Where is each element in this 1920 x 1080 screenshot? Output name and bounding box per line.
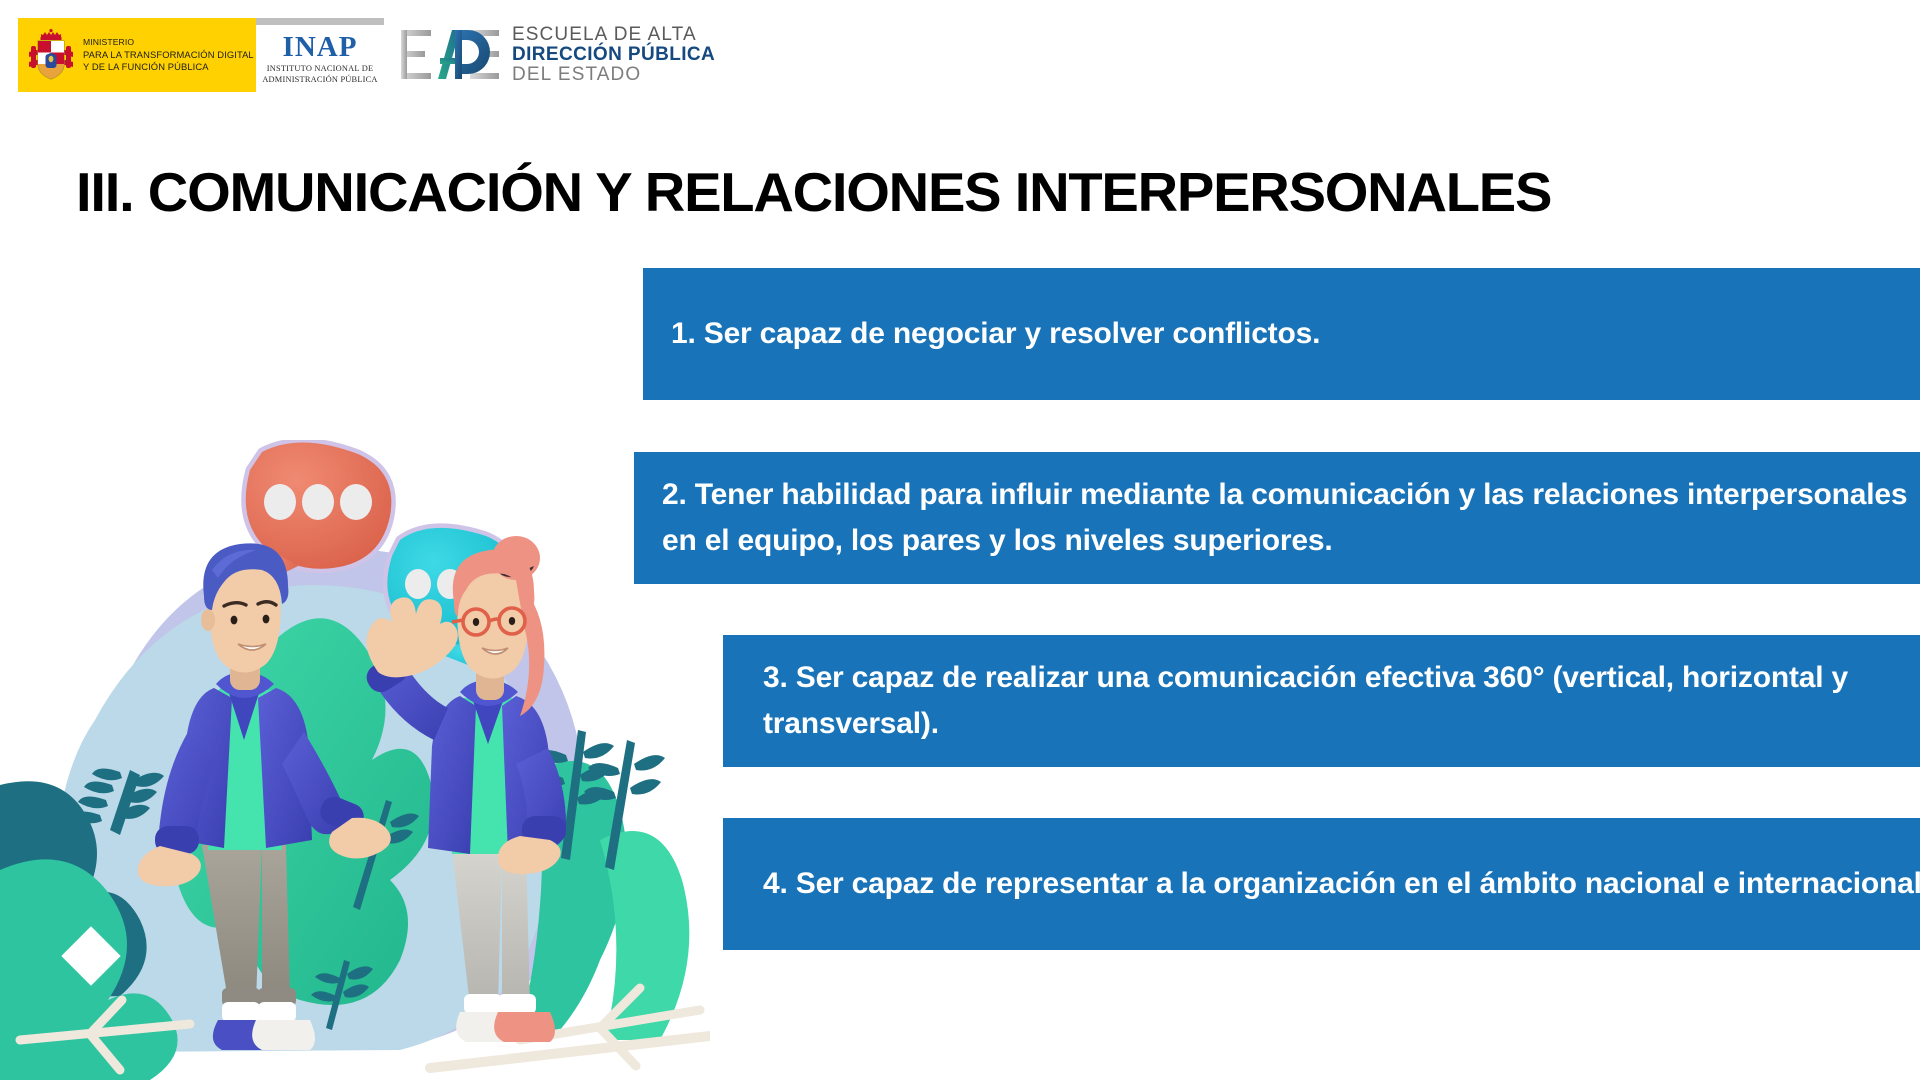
logo-ministerio: MINISTERIO PARA LA TRANSFORMACIÓN DIGITA… bbox=[18, 18, 256, 92]
bullet-box-2: 2. Tener habilidad para influir mediante… bbox=[634, 452, 1920, 584]
illustration-two-people-conversation bbox=[0, 440, 710, 1080]
eadp-line-1: ESCUELA DE ALTA bbox=[512, 25, 715, 45]
header-logo-bar: MINISTERIO PARA LA TRANSFORMACIÓN DIGITA… bbox=[18, 18, 715, 92]
bullet-text-3: 3. Ser capaz de realizar una comunicació… bbox=[763, 655, 1920, 747]
eadp-line-2: DIRECCIÓN PÚBLICA bbox=[512, 45, 715, 65]
bullet-box-4: 4. Ser capaz de representar a la organiz… bbox=[723, 818, 1920, 950]
eadp-line-3: DEL ESTADO bbox=[512, 65, 715, 85]
page-title: III. COMUNICACIÓN Y RELACIONES INTERPERS… bbox=[76, 161, 1551, 223]
inap-subtitle: INSTITUTO NACIONAL DE ADMINISTRACIÓN PÚB… bbox=[262, 64, 377, 84]
bullet-text-2: 2. Tener habilidad para influir mediante… bbox=[662, 472, 1920, 564]
ministerio-line-2: PARA LA TRANSFORMACIÓN DIGITAL bbox=[83, 49, 254, 61]
bullet-text-4: 4. Ser capaz de representar a la organiz… bbox=[763, 861, 1920, 907]
spain-coat-of-arms-icon bbox=[28, 28, 74, 82]
bullet-box-1: 1. Ser capaz de negociar y resolver conf… bbox=[643, 268, 1920, 400]
bullet-box-3: 3. Ser capaz de realizar una comunicació… bbox=[723, 635, 1920, 767]
eadp-logo-text: ESCUELA DE ALTA DIRECCIÓN PÚBLICA DEL ES… bbox=[512, 25, 715, 84]
inap-line-1: INSTITUTO NACIONAL DE bbox=[262, 64, 377, 74]
logo-eadp: ESCUELA DE ALTA DIRECCIÓN PÚBLICA DEL ES… bbox=[400, 18, 715, 92]
ministerio-line-3: Y DE LA FUNCIÓN PÚBLICA bbox=[83, 61, 254, 73]
logo-inap: INAP INSTITUTO NACIONAL DE ADMINISTRACIÓ… bbox=[256, 18, 384, 92]
eadp-monogram-icon bbox=[400, 25, 500, 85]
ministerio-logo-text: MINISTERIO PARA LA TRANSFORMACIÓN DIGITA… bbox=[83, 36, 254, 73]
inap-acronym: INAP bbox=[283, 32, 358, 62]
ministerio-line-1: MINISTERIO bbox=[83, 36, 254, 48]
bullet-text-1: 1. Ser capaz de negociar y resolver conf… bbox=[671, 311, 1320, 357]
inap-line-2: ADMINISTRACIÓN PÚBLICA bbox=[262, 75, 377, 85]
